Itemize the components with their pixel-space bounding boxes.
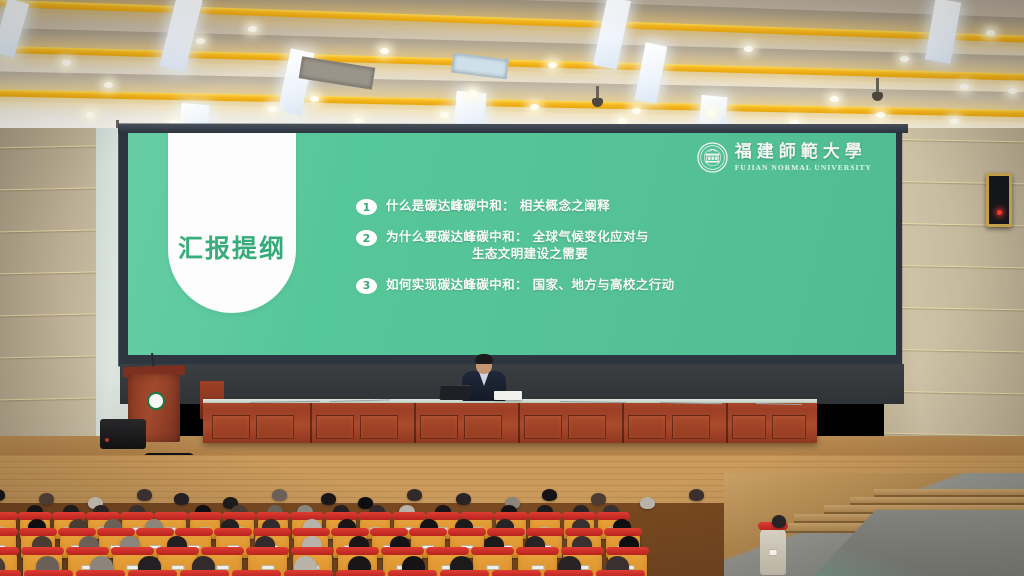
loudspeaker-led-icon [105, 438, 109, 442]
table-divider-2 [414, 403, 416, 443]
slide-outline-list: 1 什么是碳达峰碳中和： 相关概念之阐释 2 为什么要碳达峰碳中和： 全球气候变… [356, 197, 856, 307]
aisle-person-body [760, 527, 786, 575]
presentation-slide: 汇报提纲 福建師範大學 FUJIAN NORMAL UNIVERSITY [128, 133, 896, 355]
wall-panel-line-r0 [884, 139, 1024, 143]
wall-panel-line-r3 [884, 265, 1024, 269]
university-name-cn: 福建師範大學 [735, 144, 872, 161]
ceiling-downlight-2 [310, 96, 319, 102]
ceiling-downlight-1 [196, 38, 205, 44]
ceiling-downlight-23 [62, 60, 71, 66]
ceiling-downlight-21 [876, 112, 885, 118]
av-status-led-icon [997, 210, 1002, 215]
table-panel-6 [524, 415, 562, 439]
table-divider-3 [518, 403, 520, 443]
bullet-number-badge: 2 [356, 230, 377, 246]
audience-head-far [689, 489, 704, 501]
list-item: 2 为什么要碳达峰碳中和： 全球气候变化应对与 生态文明建设之需要 [356, 228, 856, 263]
slide-title-panel [168, 133, 296, 313]
audience-head-far [640, 497, 655, 509]
table-panel-10 [732, 415, 766, 439]
bullet-line-1: 如何实现碳达峰碳中和： 国家、地方与高校之行动 [386, 277, 675, 292]
ceiling-downlight-3 [380, 48, 389, 54]
ceiling-downlight-24 [248, 26, 257, 32]
table-panel-3 [360, 415, 398, 439]
ceiling-downlight-11 [1008, 88, 1017, 94]
ceiling-downlight-10 [986, 30, 995, 36]
ceiling [0, 0, 1024, 132]
ceiling-downlight-14 [268, 106, 277, 112]
table-panel-8 [628, 415, 666, 439]
ceiling-downlight-0 [104, 82, 113, 88]
bullet-text: 为什么要碳达峰碳中和： 全球气候变化应对与 生态文明建设之需要 [386, 228, 649, 263]
audience-head-far [39, 493, 54, 505]
audience-head-far [321, 493, 336, 505]
wall-panel-line-r6 [884, 391, 1024, 395]
bullet-number-badge: 1 [356, 199, 377, 215]
table-panel-1 [256, 415, 294, 439]
ceiling-downlight-8 [830, 96, 839, 102]
wall-panel-line-r5 [884, 349, 1024, 353]
ceiling-downlight-5 [548, 62, 557, 68]
aisle-step-1 [850, 497, 1024, 505]
audience-head-far [407, 489, 422, 501]
ceiling-downlight-19 [706, 110, 715, 116]
bullet-line-1: 为什么要碳达峰碳中和： 全球气候变化应对与 [386, 229, 649, 244]
ceiling-downlight-22 [950, 118, 959, 124]
table-divider-4 [622, 403, 624, 443]
conference-table [203, 403, 817, 443]
table-divider-1 [310, 403, 312, 443]
screen-top-bezel [118, 124, 908, 133]
table-panel-7 [568, 415, 606, 439]
ceiling-pendant-0 [596, 86, 599, 100]
ceiling-downlight-9 [900, 56, 909, 62]
university-logo: 福建師範大學 FUJIAN NORMAL UNIVERSITY [697, 142, 872, 173]
desk-nameplate [494, 391, 522, 400]
bullet-text: 什么是碳达峰碳中和： 相关概念之阐释 [386, 197, 610, 214]
bullet-text: 如何实现碳达峰碳中和： 国家、地方与高校之行动 [386, 276, 675, 293]
audience-head-far [272, 489, 287, 501]
list-item: 1 什么是碳达峰碳中和： 相关概念之阐释 [356, 197, 856, 215]
ceiling-downlight-6 [632, 108, 641, 114]
ceiling-downlight-12 [86, 112, 95, 118]
loudspeaker-cabinet [100, 419, 146, 449]
wall-panel-line-r4 [884, 307, 1024, 311]
bullet-number-badge: 3 [356, 278, 377, 294]
audience-head-far [137, 489, 152, 501]
av-control-panel[interactable] [986, 173, 1012, 227]
ceiling-downlight-4 [468, 90, 477, 96]
table-panel-5 [464, 415, 502, 439]
bullet-line-1: 什么是碳达峰碳中和： 相关概念之阐释 [386, 198, 610, 213]
table-panel-11 [772, 415, 806, 439]
table-divider-5 [726, 403, 728, 443]
ceiling-downlight-17 [530, 104, 539, 110]
audience-head-far [174, 493, 189, 505]
ceiling-downlight-7 [744, 46, 753, 52]
audience-head-far [456, 493, 471, 505]
university-seal-icon [697, 142, 728, 173]
audience-seating-area [0, 455, 1024, 576]
slide-panel-title: 汇报提纲 [170, 229, 294, 265]
bullet-line-2: 生态文明建设之需要 [386, 245, 649, 262]
laptop [439, 385, 471, 400]
ceiling-downlight-16 [440, 112, 449, 118]
audience-head-far [591, 493, 606, 505]
table-panel-9 [672, 415, 710, 439]
table-panel-0 [212, 415, 250, 439]
university-name-en: FUJIAN NORMAL UNIVERSITY [735, 164, 872, 172]
aisle-step-0 [874, 489, 1024, 497]
auditorium-scene: 汇报提纲 福建師範大學 FUJIAN NORMAL UNIVERSITY [0, 0, 1024, 576]
speaker-hair [475, 354, 493, 364]
ceiling-pendant-1 [876, 78, 879, 94]
aisle-person-head [772, 515, 786, 528]
audience-head-far [542, 489, 557, 501]
table-panel-4 [420, 415, 458, 439]
list-item: 3 如何实现碳达峰碳中和： 国家、地方与高校之行动 [356, 276, 856, 294]
table-panel-2 [316, 415, 354, 439]
podium-crest-icon [147, 392, 165, 410]
ceiling-downlight-25 [960, 84, 969, 90]
